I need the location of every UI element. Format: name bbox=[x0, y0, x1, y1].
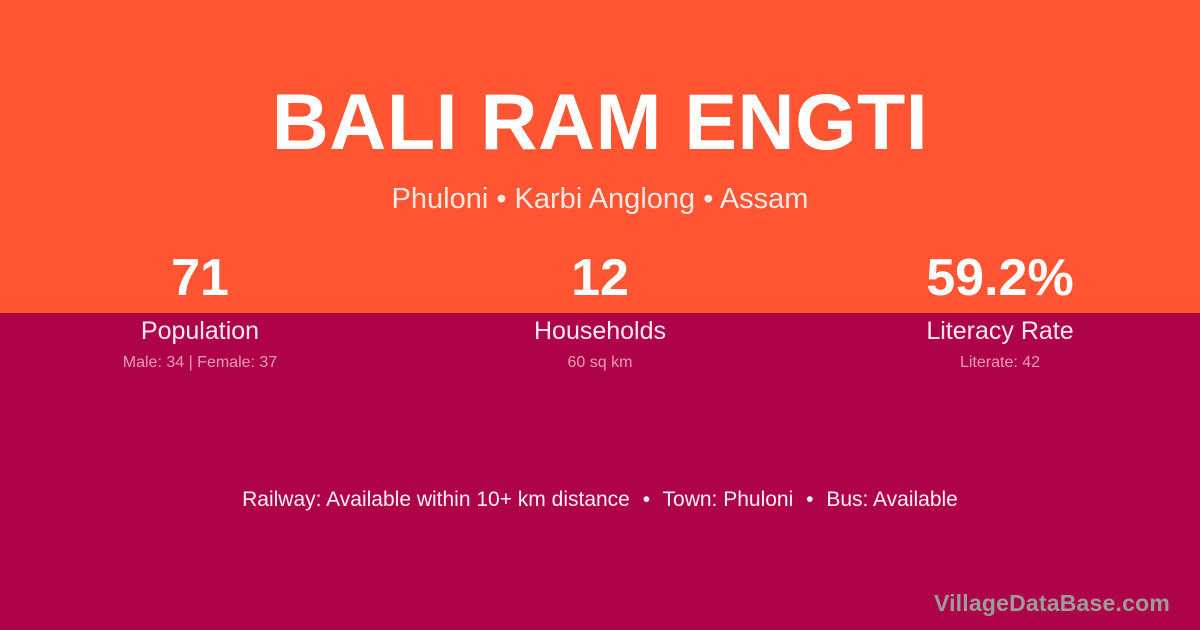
page-title: BALI RAM ENGTI bbox=[0, 82, 1200, 161]
facility-bus: Bus: Available bbox=[826, 488, 958, 511]
facility-town: Town: Phuloni bbox=[663, 488, 794, 511]
stat-households: 12 Households 60 sq km bbox=[400, 248, 800, 374]
brand-watermark: VillageDataBase.com bbox=[934, 589, 1170, 617]
facility-separator-icon: • bbox=[799, 486, 820, 514]
stat-label: Literacy Rate bbox=[800, 316, 1200, 346]
village-info-card: BALI RAM ENGTI Phuloni • Karbi Anglong •… bbox=[0, 0, 1200, 630]
stat-value: 59.2% bbox=[800, 248, 1200, 308]
stat-label: Population bbox=[0, 316, 400, 346]
stat-population: 71 Population Male: 34 | Female: 37 bbox=[0, 248, 400, 374]
stat-value: 71 bbox=[0, 248, 400, 308]
breadcrumb: Phuloni • Karbi Anglong • Assam bbox=[0, 182, 1200, 217]
stats-row: 71 Population Male: 34 | Female: 37 12 H… bbox=[0, 248, 1200, 374]
stat-literacy-rate: 59.2% Literacy Rate Literate: 42 bbox=[800, 248, 1200, 374]
facility-separator-icon: • bbox=[636, 486, 657, 514]
facility-railway: Railway: Available within 10+ km distanc… bbox=[242, 488, 630, 511]
card-content: BALI RAM ENGTI Phuloni • Karbi Anglong •… bbox=[0, 0, 1200, 630]
stat-label: Households bbox=[400, 316, 800, 346]
stat-sublabel: Literate: 42 bbox=[800, 352, 1200, 374]
stat-sublabel: 60 sq km bbox=[400, 352, 800, 374]
facility-summary: Railway: Available within 10+ km distanc… bbox=[0, 486, 1200, 514]
stat-value: 12 bbox=[400, 248, 800, 308]
stat-sublabel: Male: 34 | Female: 37 bbox=[0, 352, 400, 374]
